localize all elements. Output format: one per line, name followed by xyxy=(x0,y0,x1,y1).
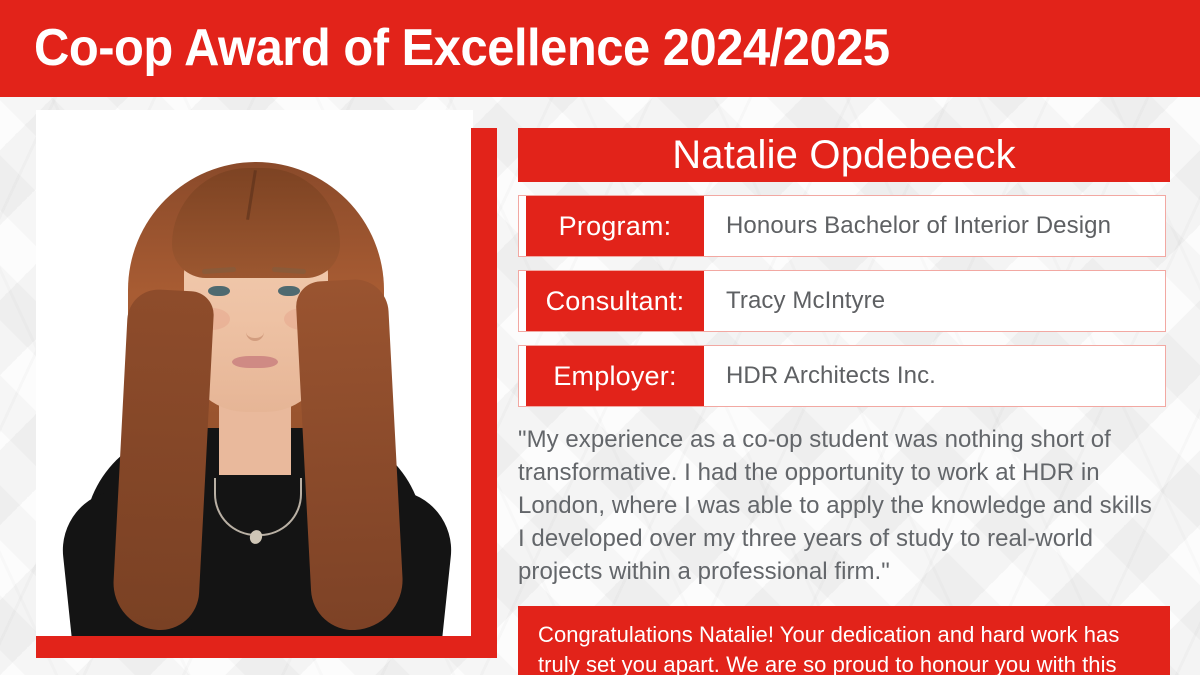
photo-nose-shape xyxy=(246,316,264,341)
detail-label-consultant: Consultant: xyxy=(526,271,704,331)
recipient-photo-card xyxy=(36,110,473,638)
photo-eye-left-shape xyxy=(208,286,230,296)
detail-label-program: Program: xyxy=(526,196,704,256)
detail-label-employer: Employer: xyxy=(526,346,704,406)
detail-value-employer: HDR Architects Inc. xyxy=(704,346,1165,406)
photo-hair-left-shape xyxy=(111,288,215,632)
detail-row-program: Program: Honours Bachelor of Interior De… xyxy=(518,195,1166,257)
detail-row-list: Program: Honours Bachelor of Interior De… xyxy=(518,195,1170,407)
detail-value-consultant: Tracy McIntyre xyxy=(704,271,1165,331)
detail-row-consultant: Consultant: Tracy McIntyre xyxy=(518,270,1166,332)
detail-value-program: Honours Bachelor of Interior Design xyxy=(704,196,1165,256)
page-title: Co-op Award of Excellence 2024/2025 xyxy=(34,14,890,82)
award-poster: Co-op Award of Excellence 2024/2025 xyxy=(0,0,1200,675)
recipient-name-banner: Natalie Opdebeeck xyxy=(518,128,1170,182)
header-banner: Co-op Award of Excellence 2024/2025 xyxy=(0,0,1200,97)
recipient-photo xyxy=(36,110,473,638)
recipient-info-panel: Natalie Opdebeeck Program: Honours Bache… xyxy=(518,110,1170,675)
congratulations-banner: Congratulations Natalie! Your dedication… xyxy=(518,606,1170,675)
congratulations-message: Congratulations Natalie! Your dedication… xyxy=(538,620,1152,675)
photo-mouth-shape xyxy=(232,356,278,368)
detail-row-employer: Employer: HDR Architects Inc. xyxy=(518,345,1166,407)
photo-hair-right-shape xyxy=(295,278,405,632)
photo-frame-bottom-bar xyxy=(36,636,497,658)
photo-eye-right-shape xyxy=(278,286,300,296)
recipient-name: Natalie Opdebeeck xyxy=(672,133,1016,177)
photo-frame-vertical-bar xyxy=(471,128,497,658)
recipient-quote: "My experience as a co-op student was no… xyxy=(518,423,1158,588)
